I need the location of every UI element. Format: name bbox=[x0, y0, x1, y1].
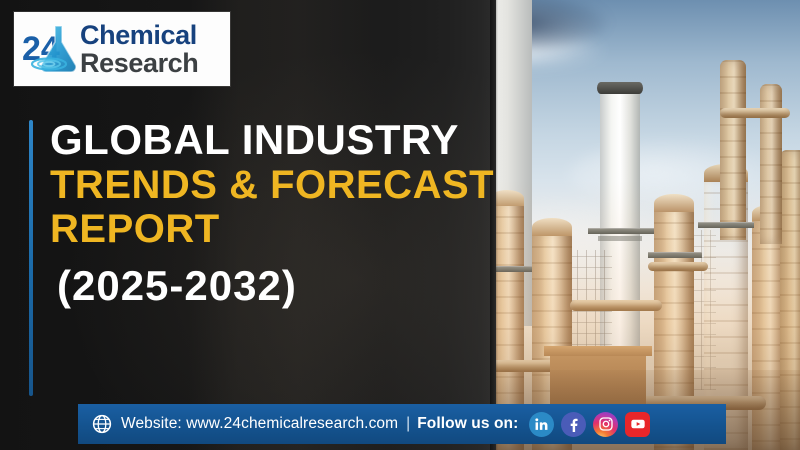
youtube-icon[interactable] bbox=[625, 412, 650, 437]
footer-separator: | bbox=[406, 415, 410, 433]
facebook-icon[interactable] bbox=[561, 412, 586, 437]
promo-banner: 24 Chemical Research GLOBAL INDUSTRY TRE… bbox=[0, 0, 800, 450]
accent-divider bbox=[29, 120, 33, 396]
headline-line-3: REPORT bbox=[50, 209, 500, 250]
globe-icon bbox=[92, 414, 112, 434]
chimney-platform bbox=[588, 228, 654, 234]
logo-text-research: Research bbox=[80, 50, 198, 77]
process-pipe bbox=[570, 300, 662, 311]
brand-logo[interactable]: 24 Chemical Research bbox=[14, 12, 230, 86]
headline-year-range: (2025-2032) bbox=[50, 264, 500, 307]
process-pipe bbox=[720, 108, 790, 118]
social-links bbox=[529, 412, 650, 437]
tall-column bbox=[720, 60, 746, 240]
plant-roof bbox=[544, 346, 652, 356]
tower-cap bbox=[654, 194, 694, 212]
flask-icon: 24 bbox=[22, 18, 84, 80]
chimney-cap bbox=[597, 82, 643, 94]
headline-block: GLOBAL INDUSTRY TRENDS & FORECAST REPORT… bbox=[50, 118, 500, 307]
headline-line-1: GLOBAL INDUSTRY bbox=[50, 118, 500, 161]
tower-cap bbox=[532, 218, 572, 236]
tower-platform bbox=[648, 252, 702, 258]
headline-line-2: TRENDS & FORECAST bbox=[50, 165, 500, 206]
footer-bar: Website: www.24chemicalresearch.com | Fo… bbox=[78, 404, 726, 444]
logo-text-chemical: Chemical bbox=[80, 22, 198, 49]
chimney-ring bbox=[598, 236, 642, 241]
process-pipe bbox=[648, 262, 708, 271]
tower-platform bbox=[698, 222, 754, 228]
website-label[interactable]: Website: www.24chemicalresearch.com bbox=[121, 415, 398, 433]
linkedin-icon[interactable] bbox=[529, 412, 554, 437]
follow-label: Follow us on: bbox=[417, 415, 518, 433]
instagram-icon[interactable] bbox=[593, 412, 618, 437]
